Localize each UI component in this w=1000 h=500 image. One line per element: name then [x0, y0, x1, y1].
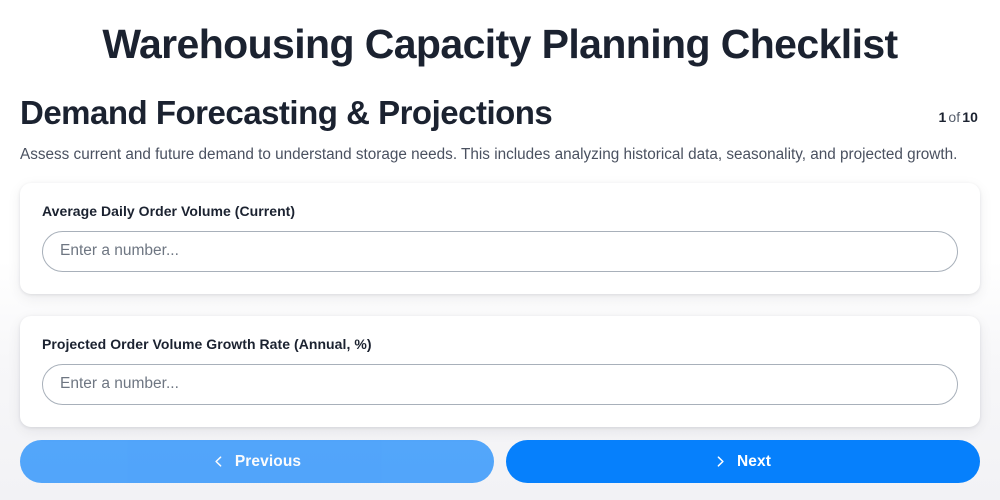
step-total: 10	[962, 109, 978, 125]
previous-button[interactable]: Previous	[20, 440, 494, 483]
next-button[interactable]: Next	[506, 440, 980, 483]
step-of-label: of	[946, 109, 962, 125]
field-card: Average Daily Order Volume (Current)	[20, 183, 980, 294]
next-button-label: Next	[737, 453, 771, 471]
section-header: Demand Forecasting & Projections 1of10	[0, 95, 1000, 131]
checklist-page: Warehousing Capacity Planning Checklist …	[0, 0, 1000, 500]
field-input-average-daily-order-volume[interactable]	[42, 231, 958, 272]
field-input-projected-order-volume-growth-rate[interactable]	[42, 364, 958, 405]
field-card-list: Average Daily Order Volume (Current) Pro…	[0, 183, 1000, 427]
page-title: Warehousing Capacity Planning Checklist	[0, 0, 1000, 67]
chevron-right-icon	[715, 456, 726, 467]
step-counter: 1of10	[938, 109, 978, 131]
section-title: Demand Forecasting & Projections	[20, 95, 552, 131]
chevron-left-icon	[213, 456, 224, 467]
wizard-navigation: Previous Next	[0, 440, 1000, 483]
field-label-projected-order-volume-growth-rate: Projected Order Volume Growth Rate (Annu…	[42, 336, 958, 352]
field-label-average-daily-order-volume: Average Daily Order Volume (Current)	[42, 203, 958, 219]
field-card: Projected Order Volume Growth Rate (Annu…	[20, 316, 980, 427]
previous-button-label: Previous	[235, 453, 301, 471]
section-description: Assess current and future demand to unde…	[20, 143, 980, 167]
